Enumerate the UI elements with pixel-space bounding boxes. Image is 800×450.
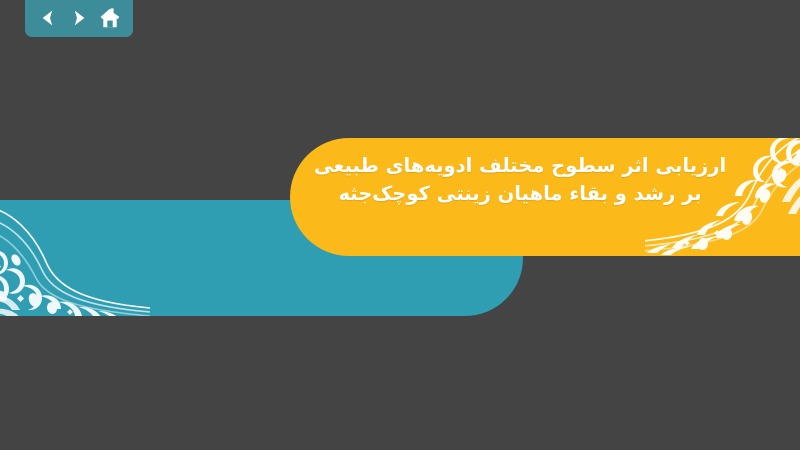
forward-triangle-icon [69, 8, 89, 28]
navigation-bar [25, 0, 133, 37]
forward-button[interactable] [66, 5, 92, 31]
back-triangle-icon [38, 8, 58, 28]
page-title: ارزیابی اثر سطوح مختلف ادویه‌های طبیعی ب… [300, 152, 740, 209]
title-line-2: بر رشد و بقاء ماهیان زینتی کوچک‌جثه [300, 180, 740, 208]
home-button[interactable] [97, 5, 123, 31]
presentation-slide: ارزیابی اثر سطوح مختلف ادویه‌های طبیعی ب… [0, 0, 800, 450]
title-line-1: ارزیابی اثر سطوح مختلف ادویه‌های طبیعی [300, 152, 740, 180]
home-icon [99, 7, 121, 29]
arabesque-ornament [0, 200, 150, 316]
back-button[interactable] [35, 5, 61, 31]
